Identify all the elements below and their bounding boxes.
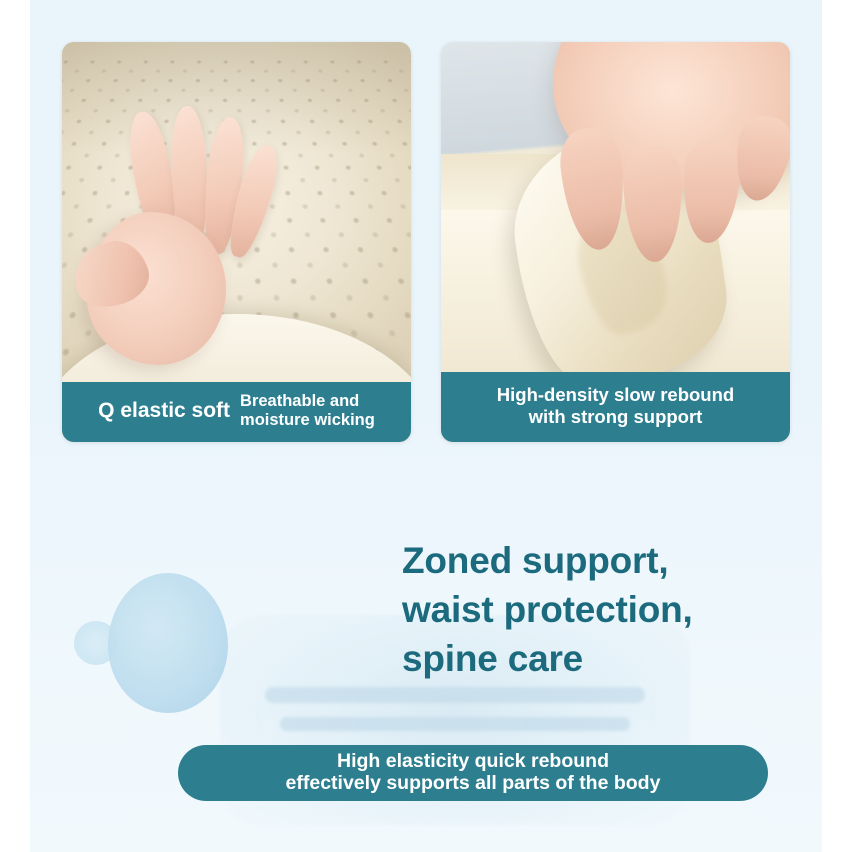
highlight-ribbon: High elasticity quick rebound effectivel… — [178, 745, 768, 801]
headline-line-3: spine care — [402, 635, 802, 684]
caption-primary-latex: Q elastic soft — [98, 399, 230, 423]
background-pillow-contour-1 — [265, 687, 645, 703]
ribbon-line-2: effectively supports all parts of the bo… — [286, 773, 661, 795]
caption-secondary-latex-line2: moisture wicking — [240, 411, 375, 429]
feature-card-memory-foam[interactable]: High-density slow rebound with strong su… — [441, 42, 790, 442]
headline-line-2: waist protection, — [402, 586, 802, 635]
section-headline: Zoned support, waist protection, spine c… — [402, 537, 802, 683]
lower-section: Zoned support, waist protection, spine c… — [30, 455, 822, 852]
finger-ring-2 — [679, 138, 742, 245]
caption-secondary-latex: Breathable and moisture wicking — [240, 392, 375, 430]
caption-bar-latex: Q elastic soft Breathable and moisture w… — [62, 382, 411, 442]
feature-card-row: Q elastic soft Breathable and moisture w… — [62, 42, 790, 442]
caption-memory-foam-line1: High-density slow rebound — [451, 384, 780, 406]
feature-card-latex[interactable]: Q elastic soft Breathable and moisture w… — [62, 42, 411, 442]
hand-pressing-pillow — [83, 106, 299, 370]
caption-secondary-latex-line1: Breathable and — [240, 392, 359, 410]
finger-middle-2 — [622, 145, 684, 262]
content-panel: Q elastic soft Breathable and moisture w… — [30, 0, 822, 852]
background-pillow-contour-2 — [280, 717, 630, 731]
caption-bar-memory-foam: High-density slow rebound with strong su… — [441, 372, 790, 442]
decorative-circle-large — [108, 573, 228, 713]
hand-bending-foam — [553, 42, 790, 274]
headline-line-1: Zoned support, — [402, 537, 802, 586]
ribbon-line-1: High elasticity quick rebound — [337, 751, 609, 773]
product-detail-image: Q elastic soft Breathable and moisture w… — [0, 0, 852, 852]
caption-memory-foam-line2: with strong support — [451, 406, 780, 428]
